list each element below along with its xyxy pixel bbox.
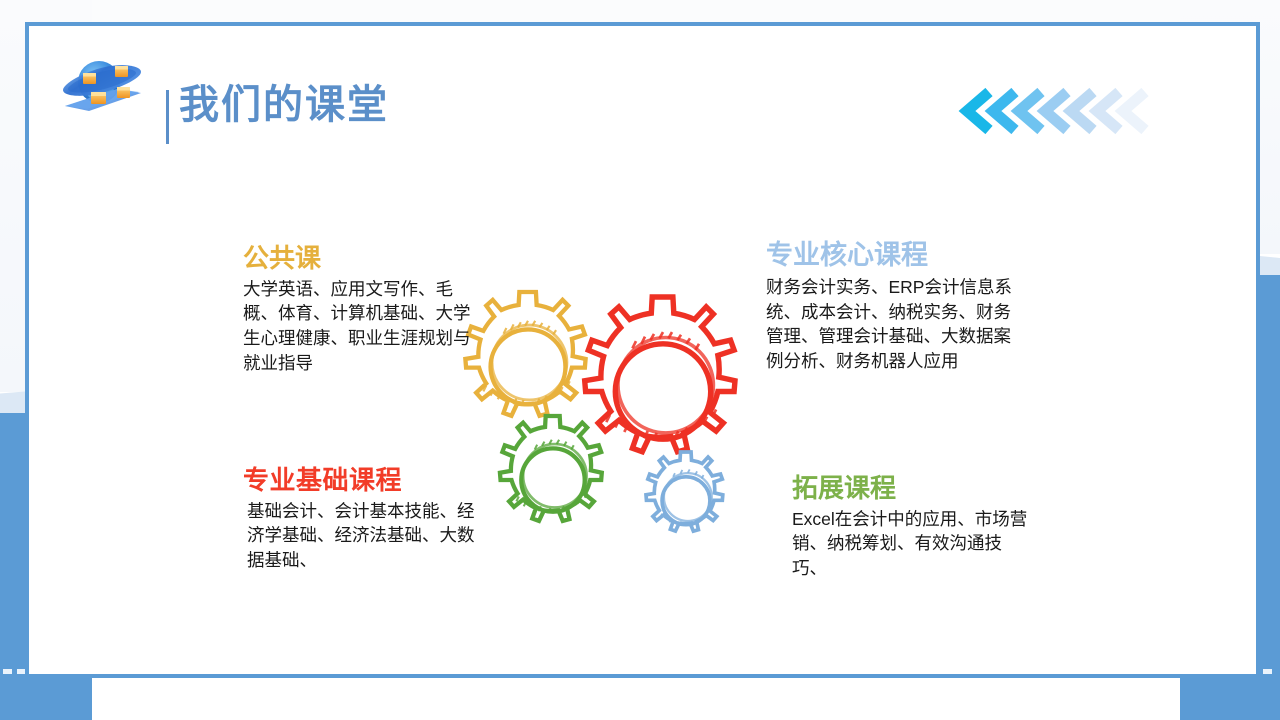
course-body-extend: Excel在会计中的应用、市场营销、纳税筹划、有效沟通技巧、 [792,507,1032,582]
page-title: 我们的课堂 [179,80,389,130]
course-heading-core: 专业核心课程 [766,241,1018,271]
content-frame: 我们的课堂 [25,22,1260,678]
vertical-bar-icon [166,90,169,144]
gear-blue-icon [646,452,723,531]
gear-green-icon [500,416,602,521]
course-body-core: 财务会计实务、ERP会计信息系统、成本会计、纳税实务、财务管理、管理会计基础、大… [766,275,1018,374]
gear-yellow-icon [465,292,585,416]
course-heading-public: 公共课 [243,244,475,273]
chevron-decoration-group [954,80,1154,142]
course-heading-basic: 专业基础课程 [243,466,478,495]
gears-illustration-group [454,276,764,551]
chevron-left-icon [1123,92,1145,130]
gear-red-icon [585,297,735,452]
course-block-basic: 专业基础课程 基础会计、会计基本技能、经济学基础、经济法基础、大数据基础、 [243,466,478,573]
slide-canvas: 我们的课堂 [0,0,1280,720]
top-tint-strip [92,0,1180,22]
slide-header: 我们的课堂 [51,42,1236,132]
course-heading-extend: 拓展课程 [792,474,1032,503]
course-body-public: 大学英语、应用文写作、毛概、体育、计算机基础、大学生心理健康、职业生涯规划与就业… [243,277,475,376]
content-card: 我们的课堂 [29,26,1256,674]
course-block-public: 公共课 大学英语、应用文写作、毛概、体育、计算机基础、大学生心理健康、职业生涯规… [243,244,475,376]
course-block-extend: 拓展课程 Excel在会计中的应用、市场营销、纳税筹划、有效沟通技巧、 [792,474,1032,581]
right-dash-mark-2 [1263,669,1272,674]
course-body-basic: 基础会计、会计基本技能、经济学基础、经济法基础、大数据基础、 [243,499,478,574]
left-dash-mark-1 [3,669,12,674]
globe-with-boxes-icon [59,54,145,116]
course-block-core: 专业核心课程 财务会计实务、ERP会计信息系统、成本会计、纳税实务、财务管理、管… [766,241,1018,374]
